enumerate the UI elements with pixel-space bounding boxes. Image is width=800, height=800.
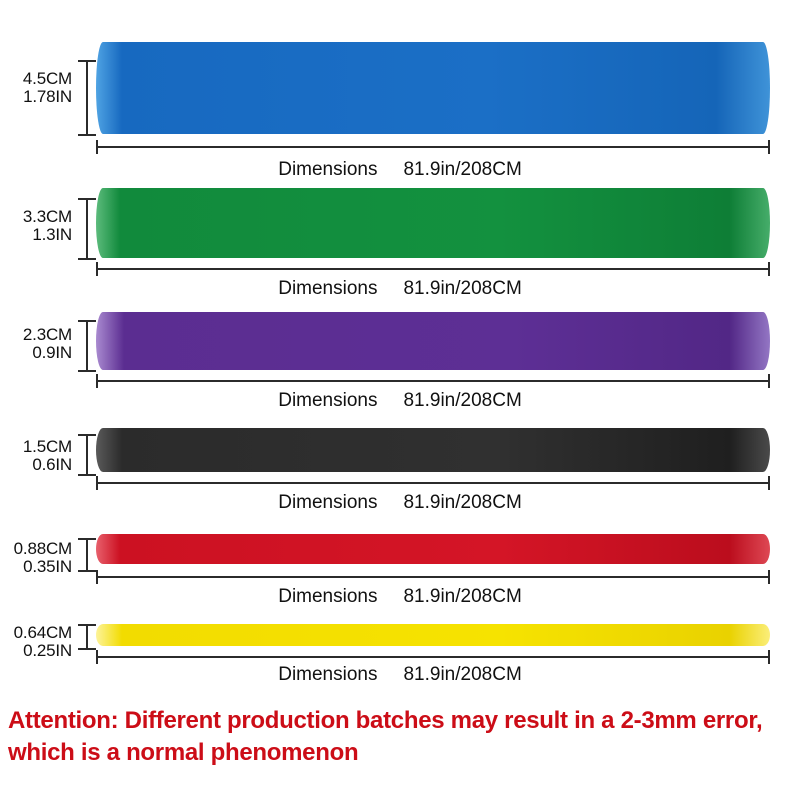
caliper-stem-icon xyxy=(86,434,88,476)
ruler-tick-right-icon xyxy=(768,476,770,490)
band-length-ruler-red xyxy=(96,570,770,584)
band-height-cm-blue: 4.5CM xyxy=(0,70,72,88)
resistance-band-green xyxy=(96,188,770,258)
caliper-stem-icon xyxy=(86,320,88,372)
band-height-caliper-blue xyxy=(78,60,96,136)
band-height-cm-black: 1.5CM xyxy=(0,438,72,456)
ruler-tick-right-icon xyxy=(768,140,770,154)
caliper-cap-bottom-icon xyxy=(78,370,96,372)
band-length-caption-red: Dimensions81.9in/208CM xyxy=(0,586,800,608)
length-caption-label: Dimensions xyxy=(278,390,377,411)
band-height-cm-purple: 2.3CM xyxy=(0,326,72,344)
band-height-label-blue: 4.5CM 1.78IN xyxy=(0,70,72,107)
length-caption-value: 81.9in/208CM xyxy=(403,586,521,607)
band-length-caption-yellow: Dimensions81.9in/208CM xyxy=(0,664,800,686)
band-length-ruler-green xyxy=(96,262,770,276)
caliper-stem-icon xyxy=(86,198,88,260)
band-height-cm-green: 3.3CM xyxy=(0,208,72,226)
band-height-caliper-yellow xyxy=(78,624,96,650)
length-caption-label: Dimensions xyxy=(278,278,377,299)
ruler-tick-right-icon xyxy=(768,570,770,584)
caliper-cap-bottom-icon xyxy=(78,258,96,260)
length-caption-value: 81.9in/208CM xyxy=(403,492,521,513)
ruler-tick-right-icon xyxy=(768,262,770,276)
band-height-label-yellow: 0.64CM 0.25IN xyxy=(0,624,72,661)
band-length-ruler-purple xyxy=(96,374,770,388)
band-length-caption-black: Dimensions81.9in/208CM xyxy=(0,492,800,514)
ruler-line-icon xyxy=(96,268,770,270)
attention-line-2: which is a normal phenomenon xyxy=(8,737,796,769)
band-length-caption-purple: Dimensions81.9in/208CM xyxy=(0,390,800,412)
attention-notice: Attention: Different production batches … xyxy=(8,705,796,768)
ruler-line-icon xyxy=(96,576,770,578)
ruler-tick-right-icon xyxy=(768,650,770,664)
band-height-label-red: 0.88CM 0.35IN xyxy=(0,540,72,577)
length-caption-label: Dimensions xyxy=(278,492,377,513)
band-height-in-black: 0.6IN xyxy=(0,456,72,474)
caliper-cap-bottom-icon xyxy=(78,474,96,476)
band-length-ruler-black xyxy=(96,476,770,490)
product-spec-sheet: 4.5CM 1.78IN Dimensions81.9in/208CM 3.3C… xyxy=(0,0,800,800)
resistance-band-blue xyxy=(96,42,770,134)
caliper-stem-icon xyxy=(86,624,88,650)
length-caption-label: Dimensions xyxy=(278,586,377,607)
length-caption-value: 81.9in/208CM xyxy=(403,159,521,180)
resistance-band-black xyxy=(96,428,770,472)
band-height-in-green: 1.3IN xyxy=(0,226,72,244)
band-height-caliper-purple xyxy=(78,320,96,372)
resistance-band-yellow xyxy=(96,624,770,646)
length-caption-value: 81.9in/208CM xyxy=(403,664,521,685)
ruler-line-icon xyxy=(96,380,770,382)
caliper-cap-bottom-icon xyxy=(78,134,96,136)
caliper-cap-bottom-icon xyxy=(78,570,96,572)
ruler-line-icon xyxy=(96,482,770,484)
caliper-stem-icon xyxy=(86,60,88,136)
resistance-band-red xyxy=(96,534,770,564)
attention-line-1: Attention: Different production batches … xyxy=(8,705,796,737)
length-caption-label: Dimensions xyxy=(278,664,377,685)
band-height-in-purple: 0.9IN xyxy=(0,344,72,362)
band-length-caption-green: Dimensions81.9in/208CM xyxy=(0,278,800,300)
band-height-caliper-green xyxy=(78,198,96,260)
band-height-cm-yellow: 0.64CM xyxy=(0,624,72,642)
length-caption-value: 81.9in/208CM xyxy=(403,390,521,411)
resistance-band-purple xyxy=(96,312,770,370)
caliper-cap-bottom-icon xyxy=(78,648,96,650)
ruler-line-icon xyxy=(96,146,770,148)
band-height-in-blue: 1.78IN xyxy=(0,88,72,106)
band-height-label-purple: 2.3CM 0.9IN xyxy=(0,326,72,363)
band-height-label-green: 3.3CM 1.3IN xyxy=(0,208,72,245)
band-height-cm-red: 0.88CM xyxy=(0,540,72,558)
band-length-ruler-blue xyxy=(96,140,770,154)
band-height-caliper-red xyxy=(78,538,96,572)
ruler-line-icon xyxy=(96,656,770,658)
band-height-label-black: 1.5CM 0.6IN xyxy=(0,438,72,475)
length-caption-value: 81.9in/208CM xyxy=(403,278,521,299)
caliper-stem-icon xyxy=(86,538,88,572)
length-caption-label: Dimensions xyxy=(278,159,377,180)
band-length-caption-blue: Dimensions81.9in/208CM xyxy=(0,159,800,181)
band-length-ruler-yellow xyxy=(96,650,770,664)
band-height-in-yellow: 0.25IN xyxy=(0,642,72,660)
band-height-caliper-black xyxy=(78,434,96,476)
band-height-in-red: 0.35IN xyxy=(0,558,72,576)
ruler-tick-right-icon xyxy=(768,374,770,388)
